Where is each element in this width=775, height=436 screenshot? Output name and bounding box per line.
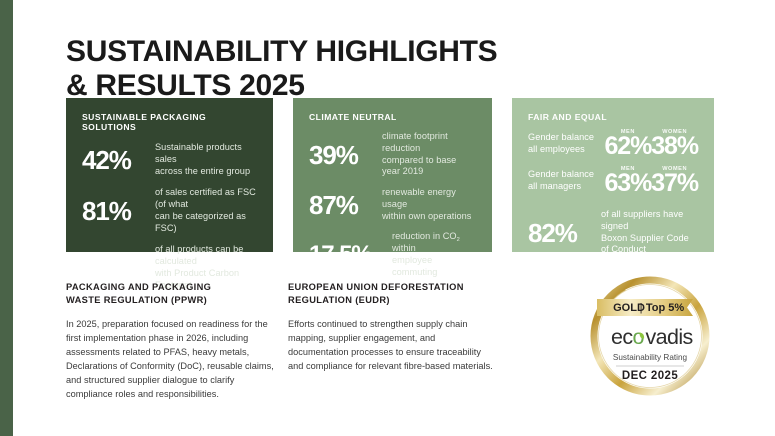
section-heading-line-2: WASTE REGULATION (PPWR) xyxy=(66,295,207,305)
stat-description-line-2: can be categorized as FSC) xyxy=(155,211,246,233)
ecovadis-wordmark-part-1: ec xyxy=(611,325,633,349)
gender-women-caption: WOMEN xyxy=(651,129,698,135)
ribbon-separator: | xyxy=(640,302,643,314)
medal-subtitle: Sustainability Rating xyxy=(613,353,688,362)
stat-description-line-2: employee commuting xyxy=(392,255,437,277)
stat-description-line-1-co2: reduction in CO2 within xyxy=(392,231,460,253)
stat-value: 39% xyxy=(309,142,373,168)
section-heading-line-1: PACKAGING AND PACKAGING xyxy=(66,282,211,292)
gender-men-value: 62% xyxy=(605,134,652,159)
medal-date-label: DEC 2025 xyxy=(622,370,678,382)
ecovadis-wordmark-part-3: vadis xyxy=(646,325,693,349)
stat-row: 82% of all suppliers have signed Boxon S… xyxy=(528,209,698,256)
panel-title-fair-equal: FAIR AND EQUAL xyxy=(528,112,698,122)
gender-men-column: MEN 62% xyxy=(605,129,652,159)
gender-men-caption: MEN xyxy=(605,166,652,172)
gender-balance-row-managers: Gender balance all managers MEN 63% WOME… xyxy=(528,166,698,196)
section-ppwr: PACKAGING AND PACKAGING WASTE REGULATION… xyxy=(66,281,276,402)
stat-row: 81% of sales certified as FSC (of what c… xyxy=(82,187,257,234)
stat-description-line-1: renewable energy usage xyxy=(382,187,456,209)
stat-description-line-2: across the entire group xyxy=(155,166,250,176)
panel-climate-neutral: CLIMATE NEUTRAL 39% climate footprint re… xyxy=(293,98,492,252)
section-body-ppwr: In 2025, preparation focused on readines… xyxy=(66,318,276,402)
gender-row-label: Gender balance all employees xyxy=(528,132,605,159)
stat-row: 17,5% reduction in CO2 within employee c… xyxy=(309,231,476,278)
stat-value: 81% xyxy=(82,198,146,224)
panel-title-packaging: SUSTAINABLE PACKAGING SOLUTIONS xyxy=(82,112,257,132)
stat-value: 88% xyxy=(82,255,146,281)
panel-fair-and-equal: FAIR AND EQUAL Gender balance all employ… xyxy=(512,98,714,252)
stat-description: Sustainable products sales across the en… xyxy=(155,142,257,177)
stat-description-line-2: Boxon Supplier Code of Conduct xyxy=(601,233,689,255)
stat-description-line-1: Sustainable products sales xyxy=(155,142,242,164)
stat-row: 42% Sustainable products sales across th… xyxy=(82,142,257,177)
gender-row-label-line-2: all managers xyxy=(528,181,581,191)
left-edge-accent-stripe xyxy=(0,0,13,436)
stat-row: 87% renewable energy usage within own op… xyxy=(309,187,476,222)
page-title: SUSTAINABILITY HIGHLIGHTS & RESULTS 2025 xyxy=(66,35,626,103)
gender-row-label-line-2: all employees xyxy=(528,144,585,154)
stat-value: 42% xyxy=(82,147,146,173)
ecovadis-medal-badge: GOLD | Top 5% ec o vadis Sustainability … xyxy=(589,274,711,396)
stat-description: reduction in CO2 within employee commuti… xyxy=(392,231,476,278)
gender-women-caption: WOMEN xyxy=(651,166,698,172)
stat-description: renewable energy usage within own operat… xyxy=(382,187,476,222)
highlight-panels: SUSTAINABLE PACKAGING SOLUTIONS 42% Sust… xyxy=(66,98,714,252)
gender-women-value: 37% xyxy=(651,171,698,196)
stat-description-line-1: of sales certified as FSC (of what xyxy=(155,187,256,209)
gender-men-column: MEN 63% xyxy=(605,166,652,196)
section-heading-line-1: EUROPEAN UNION DEFORESTATION xyxy=(288,282,464,292)
stat-description-line-2: within own operations xyxy=(382,211,471,221)
stat-description-line-1: climate footprint reduction xyxy=(382,131,448,153)
gender-men-value: 63% xyxy=(605,171,652,196)
gender-row-label: Gender balance all managers xyxy=(528,169,605,196)
ribbon-top-percent-label: Top 5% xyxy=(646,302,685,314)
section-body-eudr: Efforts continued to strengthen supply c… xyxy=(288,318,498,374)
stat-description-line-1: of all suppliers have signed xyxy=(601,209,683,231)
gender-row-label-line-1: Gender balance xyxy=(528,132,594,142)
stat-description: climate footprint reduction compared to … xyxy=(382,131,476,178)
section-heading-ppwr: PACKAGING AND PACKAGING WASTE REGULATION… xyxy=(66,281,276,307)
stat-description-line-1: of all products can be calculated xyxy=(155,244,243,266)
stat-description-line-2: compared to base year 2019 xyxy=(382,155,456,177)
stat-row: 39% climate footprint reduction compared… xyxy=(309,131,476,178)
gender-balance-row-employees: Gender balance all employees MEN 62% WOM… xyxy=(528,129,698,159)
gender-women-value: 38% xyxy=(651,134,698,159)
gender-women-column: WOMEN 38% xyxy=(651,129,698,159)
gender-women-column: WOMEN 37% xyxy=(651,166,698,196)
panel-title-climate: CLIMATE NEUTRAL xyxy=(309,112,476,122)
stat-value: 82% xyxy=(528,220,592,246)
stat-description: of all suppliers have signed Boxon Suppl… xyxy=(601,209,698,256)
section-heading-line-2: REGULATION (EUDR) xyxy=(288,295,390,305)
stat-value: 17,5% xyxy=(309,243,383,267)
section-heading-eudr: EUROPEAN UNION DEFORESTATION REGULATION … xyxy=(288,281,498,307)
ecovadis-medal-svg: GOLD | Top 5% ec o vadis Sustainability … xyxy=(589,274,711,396)
stat-value: 87% xyxy=(309,192,373,218)
panel-sustainable-packaging-solutions: SUSTAINABLE PACKAGING SOLUTIONS 42% Sust… xyxy=(66,98,273,252)
page-title-line-1: SUSTAINABILITY HIGHLIGHTS xyxy=(66,35,497,68)
gender-row-label-line-1: Gender balance xyxy=(528,169,594,179)
gender-men-caption: MEN xyxy=(605,129,652,135)
stat-description: of sales certified as FSC (of what can b… xyxy=(155,187,257,234)
section-eudr: EUROPEAN UNION DEFORESTATION REGULATION … xyxy=(288,281,498,374)
